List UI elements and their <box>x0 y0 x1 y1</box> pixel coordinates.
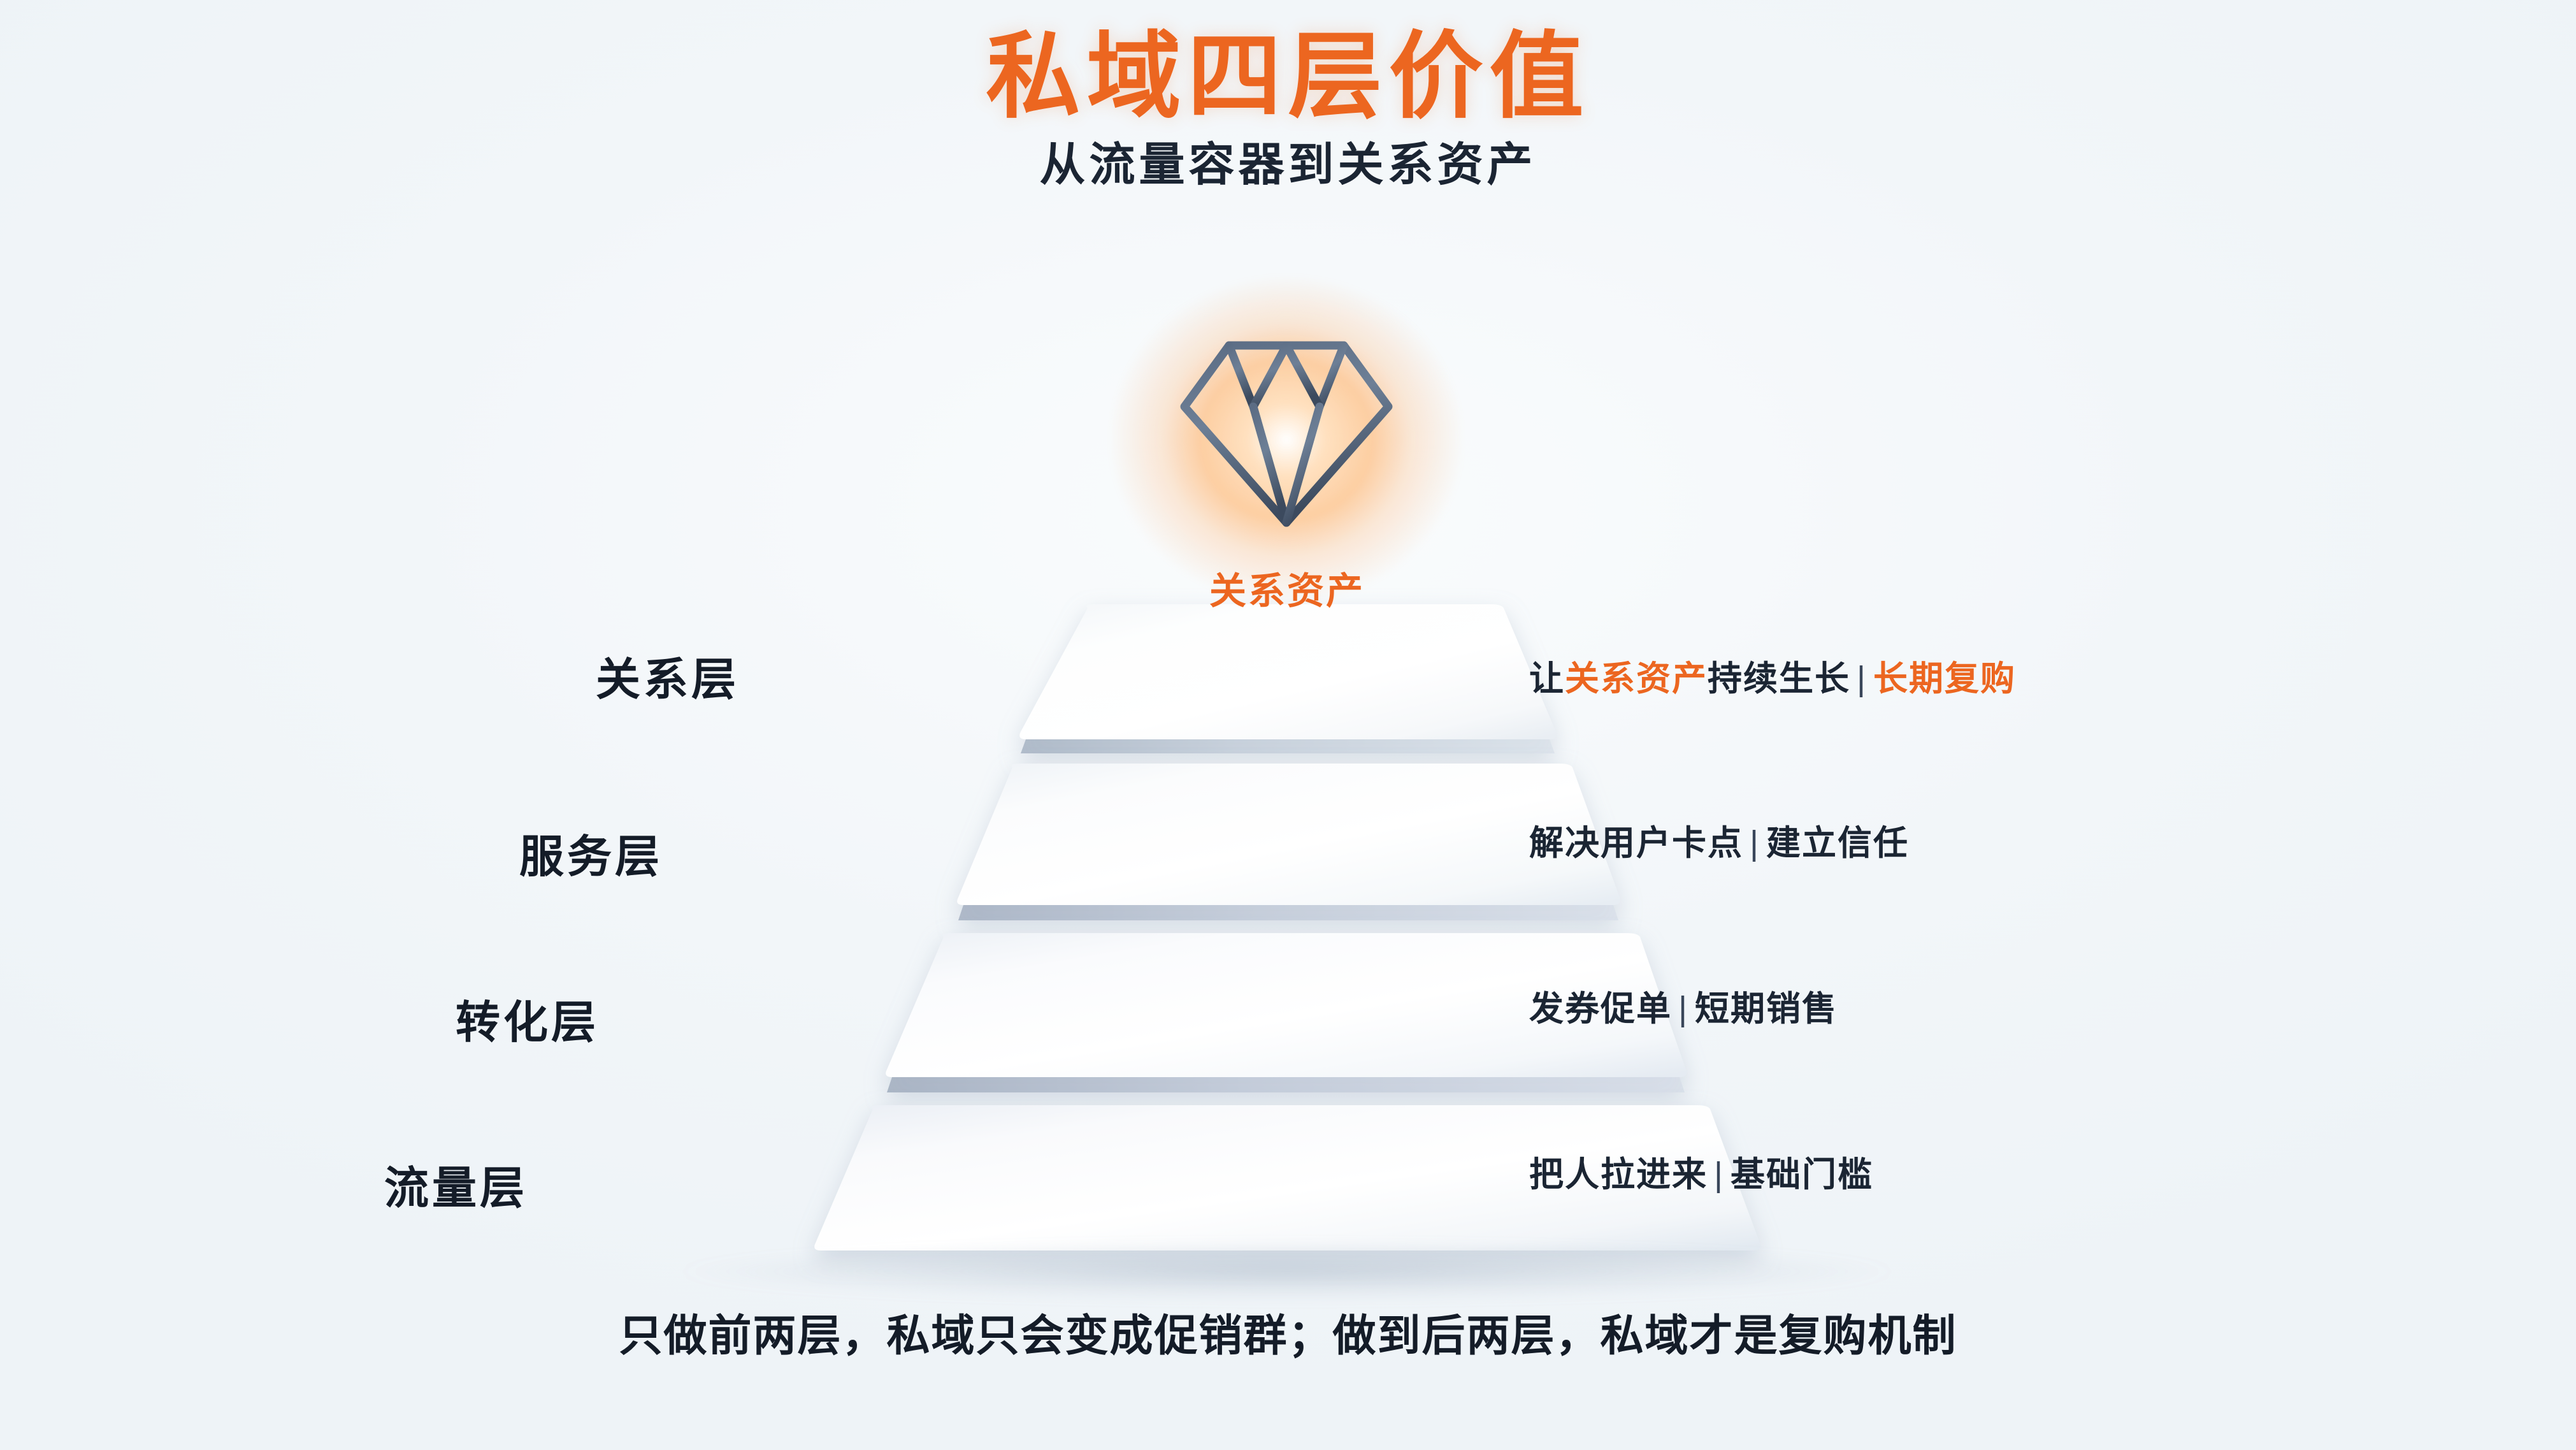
diamond-icon-container <box>1178 331 1395 535</box>
layer-label-2: 服务层 <box>306 821 663 885</box>
layer-label-1: 关系层 <box>382 644 739 708</box>
page-subtitle: 从流量容器到关系资产 <box>0 138 2576 192</box>
layer-desc-3: 发券促单|短期销售 <box>1529 980 1838 1031</box>
layer-desc-4: 把人拉进来|基础门槛 <box>1529 1146 1873 1196</box>
page-title: 私域四层价值 <box>0 24 2576 130</box>
diamond-icon <box>1178 331 1395 535</box>
layer-desc-2: 解决用户卡点|建立信任 <box>1529 815 1909 865</box>
gem-label: 关系资产 <box>1083 561 1491 614</box>
header: 私域四层价值 从流量容器到关系资产 <box>0 24 2576 192</box>
pyramid-base-shadow <box>672 1243 1902 1300</box>
layer-label-3: 转化层 <box>242 987 599 1051</box>
layer-label-4: 流量层 <box>171 1152 528 1217</box>
layer-desc-1: 让关系资产持续生长|长期复购 <box>1529 650 2016 700</box>
footer-caption: 只做前两层，私域只会变成促销群；做到后两层，私域才是复购机制 <box>0 1300 2576 1363</box>
